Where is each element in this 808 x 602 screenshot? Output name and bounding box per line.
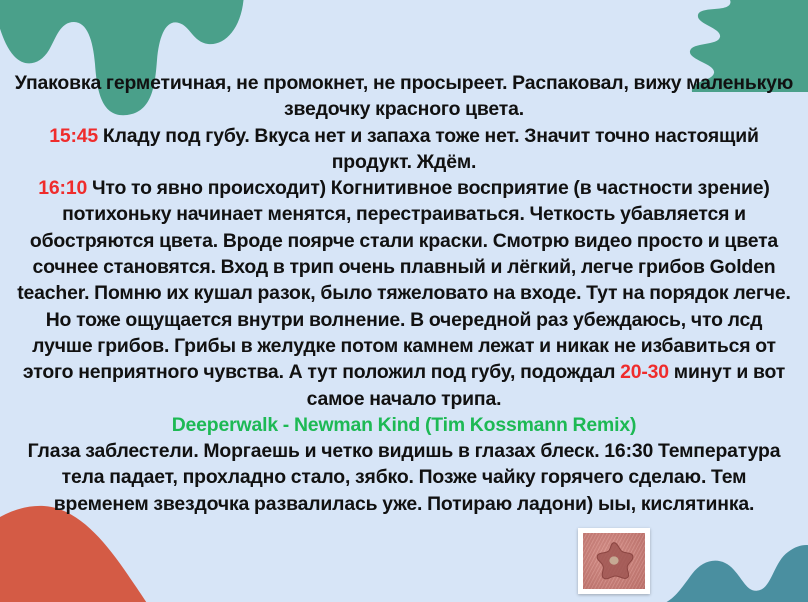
slide-canvas: Упаковка герметичная, не промокнет, не п… <box>0 0 808 602</box>
story-paragraph-2: 15:45 Кладу под губу. Вкуса нет и запаха… <box>14 123 794 176</box>
photo-inner <box>583 533 645 589</box>
paragraph-1-body: Упаковка герметичная, не промокнет, не п… <box>15 72 793 120</box>
story-paragraph-5: Глаза заблестели. Моргаешь и четко видиш… <box>14 438 794 517</box>
story-text-block: Упаковка герметичная, не промокнет, не п… <box>0 70 808 517</box>
story-paragraph-1: Упаковка герметичная, не промокнет, не п… <box>14 70 794 123</box>
star-blot-shape <box>593 541 635 581</box>
timestamp-1610: 16:10 <box>38 177 87 199</box>
paragraph-3-body-before: Что то явно происходит) Когнитивное восп… <box>17 177 791 383</box>
paragraph-5-body: Глаза заблестели. Моргаешь и четко видиш… <box>28 440 781 515</box>
blotter-star-photo[interactable] <box>578 528 650 594</box>
paragraph-2-body: Кладу под губу. Вкуса нет и запаха тоже … <box>98 125 759 173</box>
duration-20-30: 20-30 <box>620 361 669 383</box>
story-paragraph-4: Deeperwalk - Newman Kind (Tim Kossmann R… <box>14 412 794 438</box>
music-track-title: Deeperwalk - Newman Kind (Tim Kossmann R… <box>14 412 794 438</box>
timestamp-1545: 15:45 <box>49 125 98 147</box>
story-paragraph-3: 16:10 Что то явно происходит) Когнитивно… <box>14 175 794 412</box>
